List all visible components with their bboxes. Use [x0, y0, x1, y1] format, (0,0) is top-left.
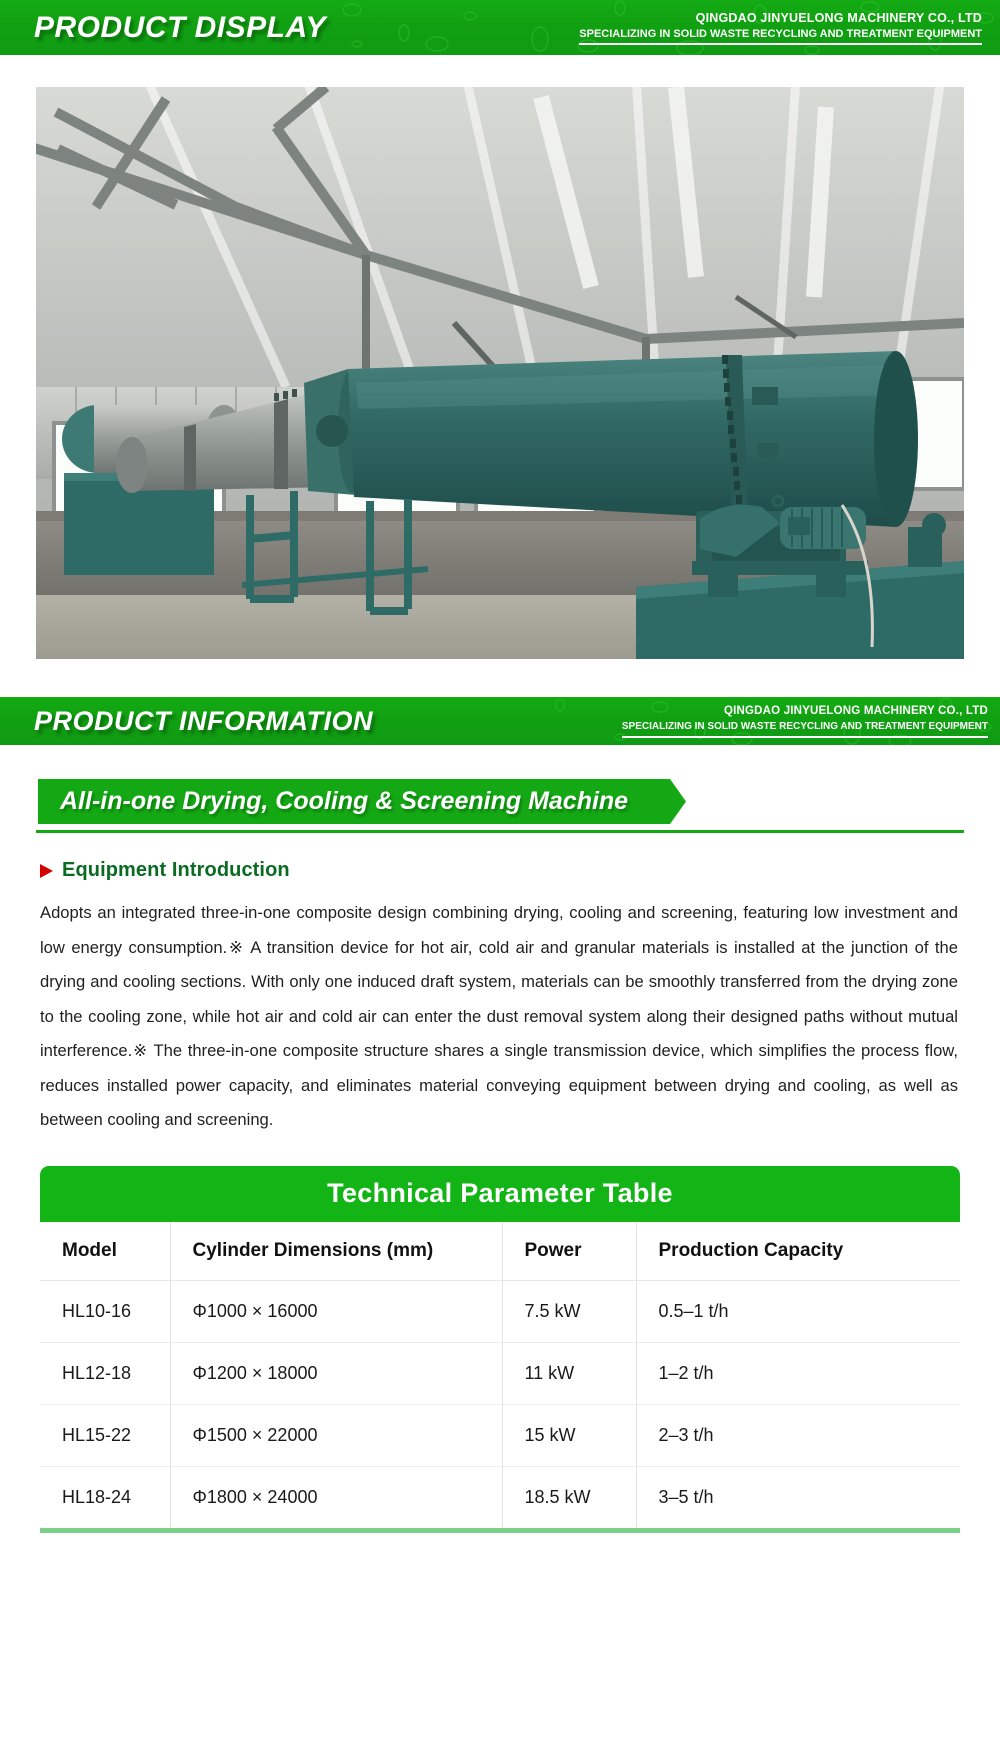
product-information-section: All-in-one Drying, Cooling & Screening M… — [0, 779, 1000, 1533]
factory-photo-icon — [36, 87, 964, 659]
cell-dimensions: Φ1200 × 18000 — [170, 1342, 502, 1404]
table-row: HL10-16 Φ1000 × 16000 7.5 kW 0.5–1 t/h — [40, 1280, 960, 1342]
column-header-dimensions: Cylinder Dimensions (mm) — [170, 1222, 502, 1281]
cell-model: HL12-18 — [40, 1342, 170, 1404]
cell-model: HL10-16 — [40, 1280, 170, 1342]
cell-capacity: 2–3 t/h — [636, 1404, 960, 1466]
company-tagline: SPECIALIZING IN SOLID WASTE RECYCLING AN… — [622, 720, 988, 738]
cell-capacity: 1–2 t/h — [636, 1342, 960, 1404]
arrow-right-icon — [40, 864, 53, 878]
cell-capacity: 0.5–1 t/h — [636, 1280, 960, 1342]
product-photo — [36, 87, 964, 659]
cell-dimensions: Φ1800 × 24000 — [170, 1466, 502, 1528]
table-row: HL15-22 Φ1500 × 22000 15 kW 2–3 t/h — [40, 1404, 960, 1466]
cell-model: HL18-24 — [40, 1466, 170, 1528]
equipment-introduction-heading: Equipment Introduction — [40, 859, 964, 882]
cell-power: 18.5 kW — [502, 1466, 636, 1528]
company-tagline: SPECIALIZING IN SOLID WASTE RECYCLING AN… — [579, 27, 982, 46]
ribbon-underline — [36, 830, 964, 833]
product-information-banner: PRODUCT INFORMATION QINGDAO JINYUELONG M… — [0, 697, 1000, 745]
cell-model: HL15-22 — [40, 1404, 170, 1466]
cell-dimensions: Φ1000 × 16000 — [170, 1280, 502, 1342]
table-row: HL18-24 Φ1800 × 24000 18.5 kW 3–5 t/h — [40, 1466, 960, 1528]
table-caption: Technical Parameter Table — [40, 1166, 960, 1222]
company-name: QINGDAO JINYUELONG MACHINERY CO., LTD — [579, 10, 982, 27]
column-header-capacity: Production Capacity — [636, 1222, 960, 1281]
banner-title: PRODUCT INFORMATION — [34, 708, 373, 735]
product-display-banner: PRODUCT DISPLAY QINGDAO JINYUELONG MACHI… — [0, 0, 1000, 55]
cell-dimensions: Φ1500 × 22000 — [170, 1404, 502, 1466]
table-row: HL12-18 Φ1200 × 18000 11 kW 1–2 t/h — [40, 1342, 960, 1404]
technical-parameter-table: Model Cylinder Dimensions (mm) Power Pro… — [40, 1222, 960, 1528]
company-block: QINGDAO JINYUELONG MACHINERY CO., LTD SP… — [579, 10, 982, 46]
cell-power: 7.5 kW — [502, 1280, 636, 1342]
product-photo-section — [0, 55, 1000, 659]
company-block: QINGDAO JINYUELONG MACHINERY CO., LTD SP… — [622, 704, 988, 737]
product-title: All-in-one Drying, Cooling & Screening M… — [60, 787, 628, 816]
cell-power: 11 kW — [502, 1342, 636, 1404]
section-heading-label: Equipment Introduction — [62, 859, 290, 882]
column-header-power: Power — [502, 1222, 636, 1281]
company-name: QINGDAO JINYUELONG MACHINERY CO., LTD — [622, 704, 988, 720]
cell-power: 15 kW — [502, 1404, 636, 1466]
cell-capacity: 3–5 t/h — [636, 1466, 960, 1528]
intro-paragraph: Adopts an integrated three-in-one compos… — [40, 896, 958, 1138]
column-header-model: Model — [40, 1222, 170, 1281]
banner-title: PRODUCT DISPLAY — [34, 13, 326, 43]
product-title-ribbon: All-in-one Drying, Cooling & Screening M… — [38, 779, 686, 824]
table-header-row: Model Cylinder Dimensions (mm) Power Pro… — [40, 1222, 960, 1281]
technical-parameter-table-block: Technical Parameter Table Model Cylinder… — [40, 1166, 960, 1533]
